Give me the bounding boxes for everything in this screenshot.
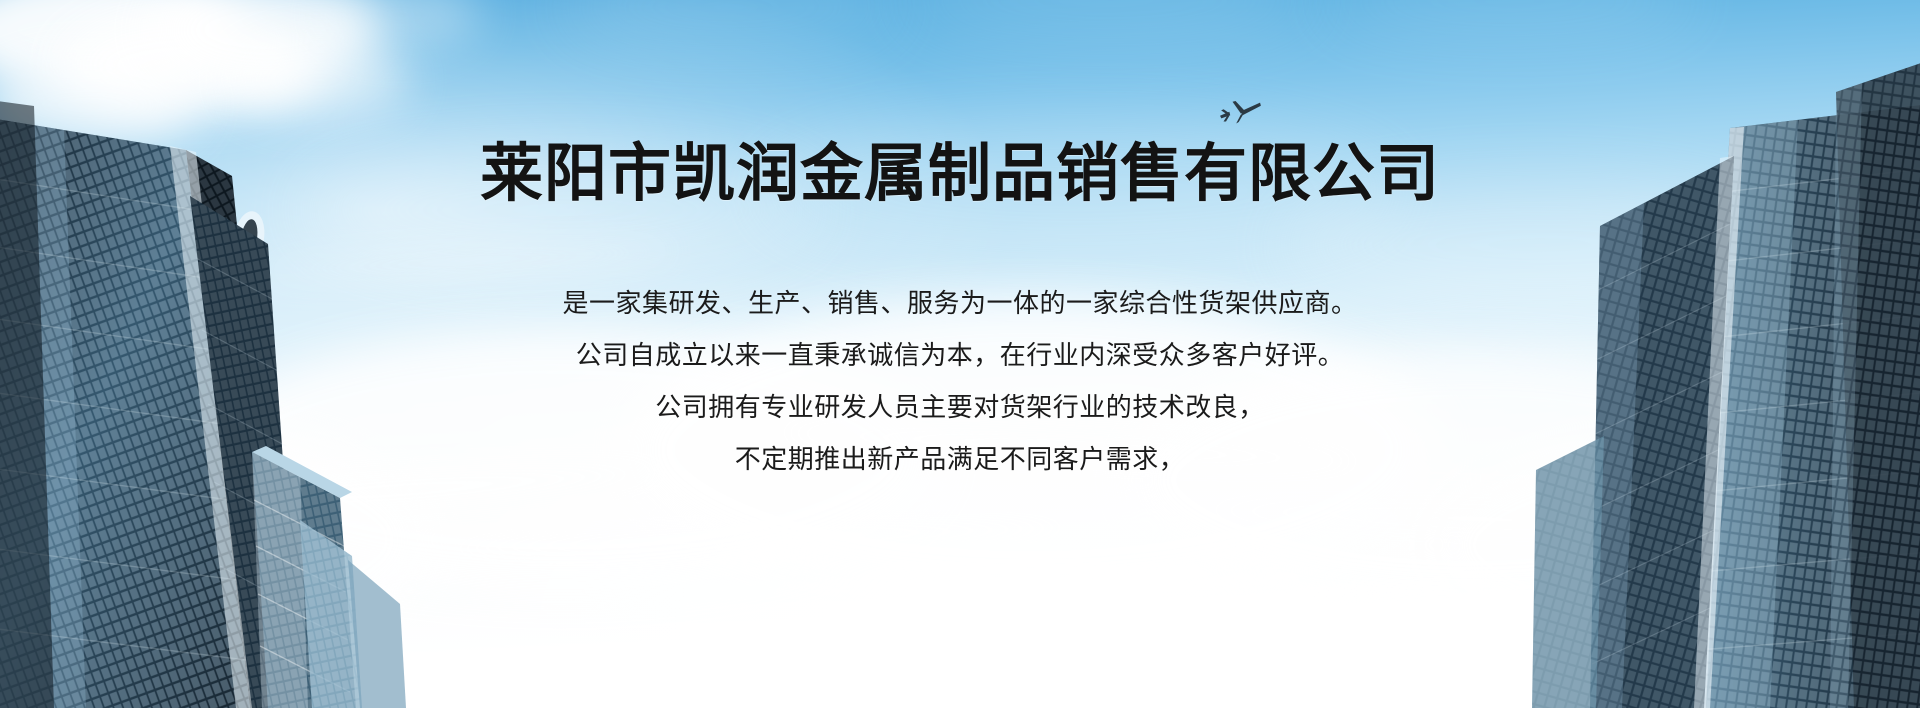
hero-banner: 莱阳市凯润金属制品销售有限公司 是一家集研发、生产、销售、服务为一体的一家综合性… [0, 0, 1920, 708]
tower-right-main [1696, 104, 1920, 708]
cloud-shape [900, 0, 1320, 40]
cloud-shape [180, 330, 940, 590]
cloud-shape [0, 60, 200, 150]
tower-oval-detail [230, 209, 268, 267]
cloud-shape [0, 420, 440, 660]
cloud-shape [1280, 180, 1800, 310]
tower-edge-sliver [0, 100, 54, 708]
tower-spires [300, 520, 406, 708]
cloud-shape [1320, 0, 1700, 36]
tower-left-slab [190, 196, 300, 708]
tower-right-far [1830, 60, 1920, 708]
cloud-shape [1420, 430, 1920, 660]
cloud-shape [320, 0, 480, 50]
tower-right-mid [1590, 156, 1734, 708]
tower-left-main [0, 118, 286, 708]
skyscraper-left [0, 0, 420, 708]
cloud-shape [1120, 350, 1820, 610]
page-title: 莱阳市凯润金属制品销售有限公司 [480, 141, 1440, 208]
cloud-wisp [420, 508, 1101, 568]
cloud-shape [760, 120, 1400, 260]
cloud-layer [0, 0, 1920, 708]
airplane-icon [1218, 96, 1264, 130]
cloud-shape [300, 150, 820, 270]
cloud-wisp [119, 451, 680, 530]
description-line: 是一家集研发、生产、销售、服务为一体的一家综合性货架供应商。 [562, 278, 1357, 330]
lowrise-right [1532, 436, 1604, 708]
cloud-wisp [1180, 490, 1781, 549]
cloud-shape [230, 40, 410, 120]
cloud-shape [150, 0, 380, 90]
description-line: 不定期推出新产品满足不同客户需求， [735, 434, 1186, 486]
skyscraper-right [1300, 0, 1920, 708]
cloud-shape [620, 300, 1440, 600]
cloud-wisp [760, 414, 1381, 480]
description-line: 公司自成立以来一直秉承诚信为本，在行业内深受众多客户好评。 [576, 330, 1345, 382]
lowrise-block [252, 446, 356, 708]
cloud-shape [560, 0, 900, 42]
cloud-shape [0, 0, 240, 100]
cloud-shape [60, 10, 320, 120]
banner-content: 莱阳市凯润金属制品销售有限公司 是一家集研发、生产、销售、服务为一体的一家综合性… [0, 0, 1920, 708]
banner-description: 是一家集研发、生产、销售、服务为一体的一家综合性货架供应商。 公司自成立以来一直… [562, 278, 1357, 486]
cloud-wisp [260, 237, 681, 285]
description-line: 公司拥有专业研发人员主要对货架行业的技术改良， [655, 382, 1265, 434]
